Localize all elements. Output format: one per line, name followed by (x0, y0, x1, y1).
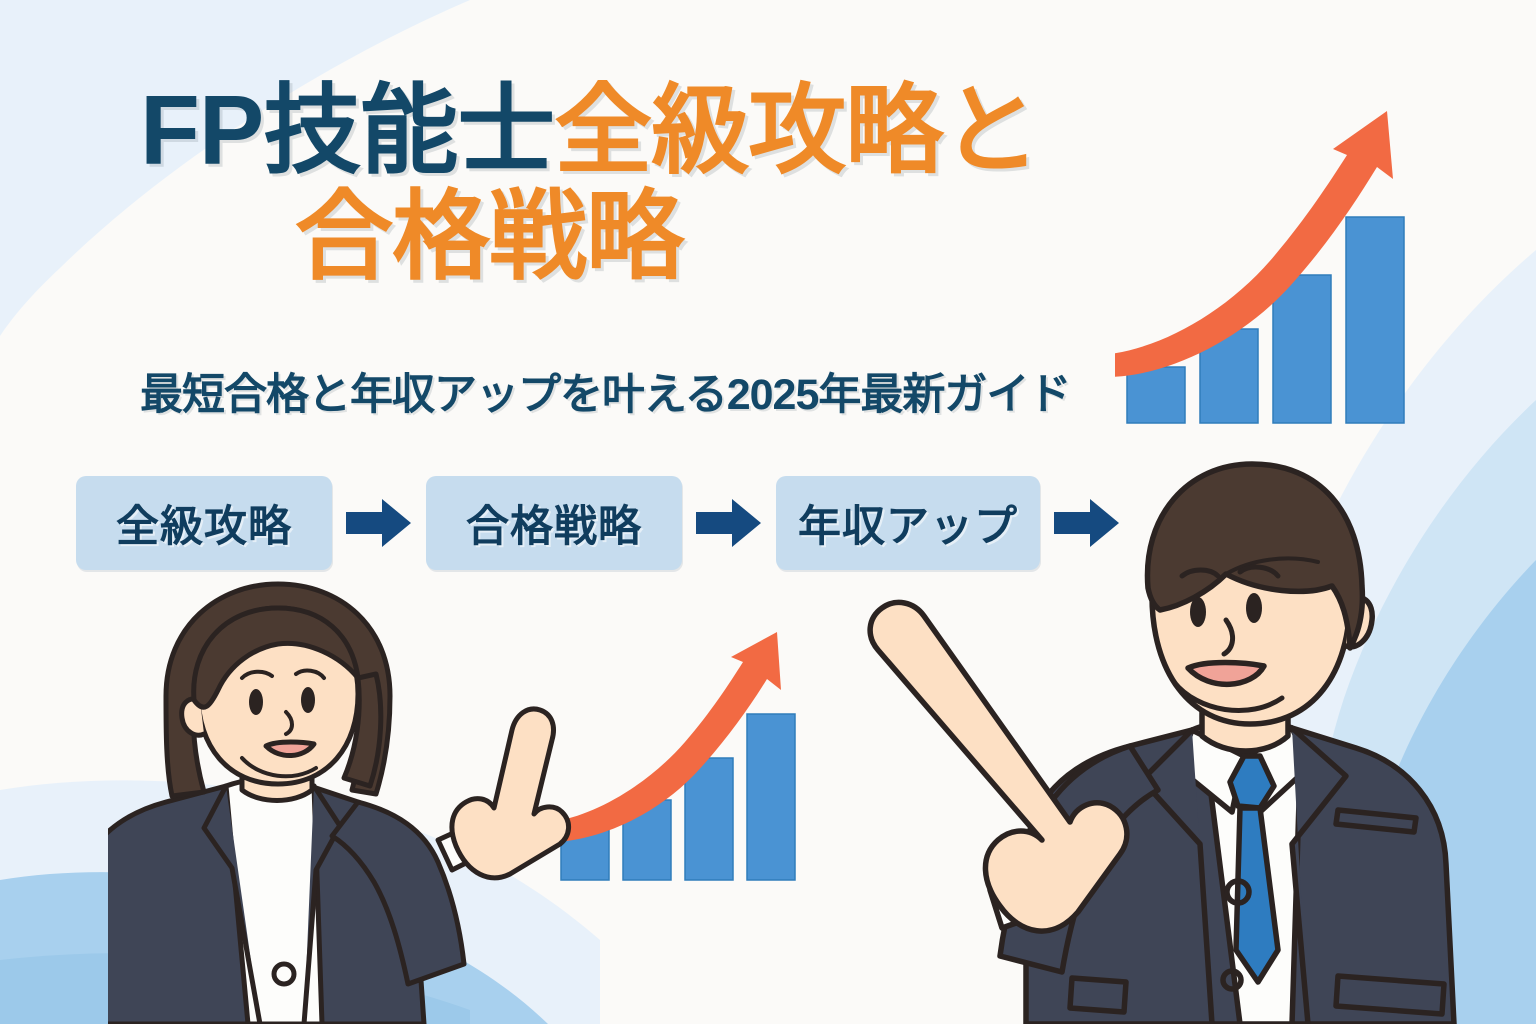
woman-eye-left (249, 689, 263, 715)
woman-mouth (266, 742, 314, 756)
man-eye-left (1190, 597, 1206, 627)
banner-canvas: FP技能士全級攻略と 合格戦略 最短合格と年収アップを叶える2025年最新ガイド… (0, 0, 1536, 1024)
businesswoman-illustration (108, 578, 578, 1024)
man-eye-right (1246, 593, 1262, 623)
businessman-illustration (840, 420, 1470, 1024)
woman-hand (452, 709, 569, 878)
woman-eye-right (301, 687, 315, 713)
people-layer (0, 0, 1536, 1024)
